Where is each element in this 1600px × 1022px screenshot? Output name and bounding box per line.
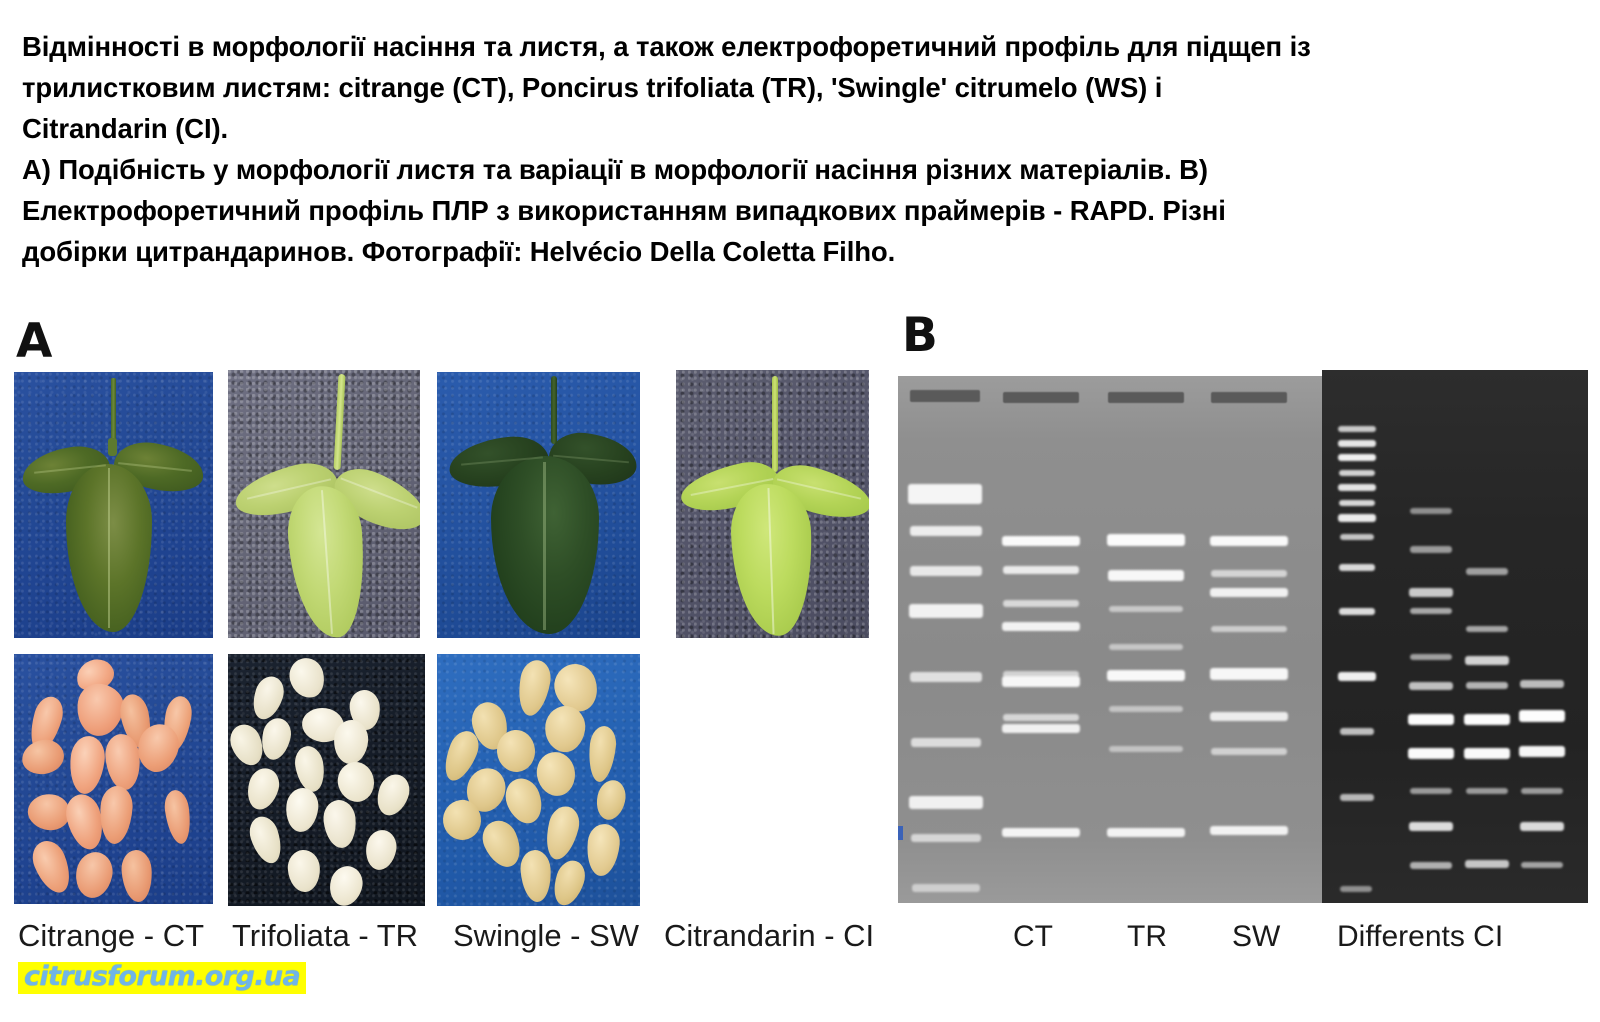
label-gel-sw: SW xyxy=(1232,920,1280,954)
citrange-seeds-photo xyxy=(14,654,213,904)
label-gel-differents-ci: Differents CI xyxy=(1337,920,1503,954)
caption-line-6: добірки цитрандаринов. Фотографії: Helvé… xyxy=(22,231,1492,272)
figure-caption: Відмінності в морфології насіння та лист… xyxy=(22,26,1492,272)
label-gel-ct: CT xyxy=(1013,920,1053,954)
panel-b-letter: B xyxy=(902,312,938,359)
caption-line-1: Відмінності в морфології насіння та лист… xyxy=(22,26,1492,67)
trifoliata-leaf-photo xyxy=(228,370,420,638)
label-citrandarin: Citrandarin - CI xyxy=(664,918,874,954)
citrange-leaf-photo xyxy=(14,372,213,638)
gel-ct-tr-sw xyxy=(898,376,1323,903)
caption-line-5: Електрофоретичний профіль ПЛР з використ… xyxy=(22,190,1492,231)
caption-line-4: А) Подібність у морфології листя та варі… xyxy=(22,149,1492,190)
label-trifoliata: Trifoliata - TR xyxy=(232,918,418,954)
caption-line-2: трилистковим листям: citrange (CT), Ponc… xyxy=(22,67,1492,108)
label-gel-tr: TR xyxy=(1127,920,1167,954)
citrandarin-leaf-photo xyxy=(676,370,869,638)
gel-differents-ci xyxy=(1322,370,1588,903)
caption-line-3: Citrandarin (CI). xyxy=(22,108,1492,149)
label-swingle: Swingle - SW xyxy=(453,918,639,954)
trifoliata-seeds-photo xyxy=(228,654,425,906)
site-watermark: citrusforum.org.ua xyxy=(18,962,306,994)
label-citrange: Citrange - CT xyxy=(18,918,204,954)
panel-a-letter: A xyxy=(16,318,52,365)
swingle-leaf-photo xyxy=(437,372,640,638)
swingle-seeds-photo xyxy=(437,654,640,906)
